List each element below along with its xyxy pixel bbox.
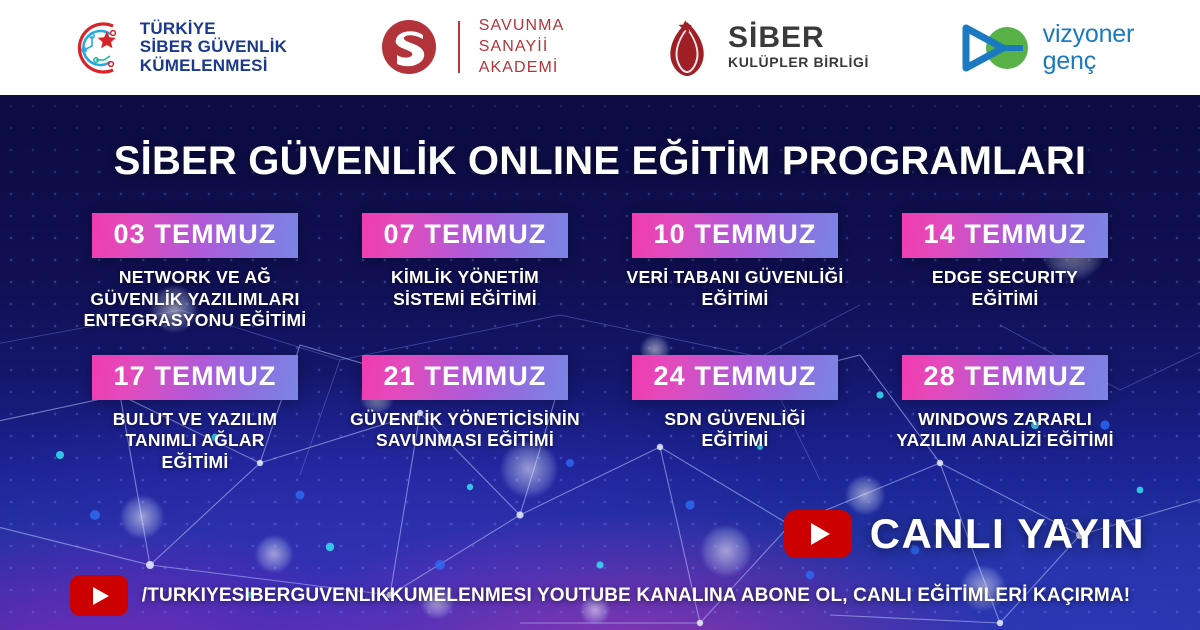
program-date-badge: 07 TEMMUZ <box>362 213 569 258</box>
program-title: WINDOWS ZARARLI YAZILIM ANALİZİ EĞİTİMİ <box>896 409 1113 452</box>
page-title: SİBER GÜVENLİK ONLINE EĞİTİM PROGRAMLARI <box>0 139 1200 184</box>
program-title: GÜVENLİK YÖNETİCİSİNİN SAVUNMASI EĞİTİMİ <box>350 409 580 452</box>
poster-content: SİBER GÜVENLİK ONLINE EĞİTİM PROGRAMLARI… <box>0 95 1200 630</box>
crescent-wings-icon <box>656 15 718 81</box>
program-row-2: 17 TEMMUZ BULUT VE YAZILIM TANIMLI AĞLAR… <box>60 355 1140 474</box>
play-triangle-icon <box>93 587 109 605</box>
logo-1-line2: SİBER GÜVENLİK <box>140 38 287 56</box>
logo-2-line2: SANAYİİ <box>479 37 565 58</box>
logo-vizyoner-genc: vizyoner genç <box>961 21 1135 74</box>
logo-2-wordmark: SAVUNMA SANAYİİ AKADEMİ <box>479 16 565 78</box>
program-date-badge: 28 TEMMUZ <box>902 355 1109 400</box>
program-date-badge: 10 TEMMUZ <box>632 213 839 258</box>
logo-2-line1: SAVUNMA <box>479 16 565 37</box>
program-title: VERİ TABANI GÜVENLİĞİ EĞİTİMİ <box>627 267 844 310</box>
logo-3-line2: KULÜPLER BİRLİGİ <box>728 53 869 71</box>
program-date-badge: 21 TEMMUZ <box>362 355 569 400</box>
program-card[interactable]: 24 TEMMUZ SDN GÜVENLİĞİ EĞİTİMİ <box>600 355 870 474</box>
live-label: CANLI YAYIN <box>870 510 1145 558</box>
program-date-badge: 03 TEMMUZ <box>92 213 299 258</box>
program-title: SDN GÜVENLİĞİ EĞİTİMİ <box>664 409 805 452</box>
sponsor-logo-bar: TÜRKİYE SİBER GÜVENLİK KÜMELENMESİ SAVUN… <box>0 0 1200 95</box>
program-card[interactable]: 07 TEMMUZ KİMLİK YÖNETİM SİSTEMİ EĞİTİMİ <box>330 213 600 332</box>
program-grid: 03 TEMMUZ NETWORK VE AĞ GÜVENLİK YAZILIM… <box>60 213 1140 473</box>
program-card[interactable]: 14 TEMMUZ EDGE SECURITY EĞİTİMİ <box>870 213 1140 332</box>
ssa-s-circle-icon <box>379 17 439 77</box>
program-card[interactable]: 10 TEMMUZ VERİ TABANI GÜVENLİĞİ EĞİTİMİ <box>600 213 870 332</box>
logo-turkiye-siber-guvenlik-kumelenmesi: TÜRKİYE SİBER GÜVENLİK KÜMELENMESİ <box>66 16 287 80</box>
program-date-badge: 17 TEMMUZ <box>92 355 299 400</box>
program-card[interactable]: 28 TEMMUZ WINDOWS ZARARLI YAZILIM ANALİZ… <box>870 355 1140 474</box>
subscribe-text: /TURKIYESIBERGUVENLIKKUMELENMESI YOUTUBE… <box>142 585 1130 607</box>
youtube-play-icon[interactable] <box>784 510 852 558</box>
program-title: NETWORK VE AĞ GÜVENLİK YAZILIMLARI ENTEG… <box>84 267 307 332</box>
logo-4-line1: vizyoner <box>1043 21 1135 47</box>
subscribe-bar[interactable]: /TURKIYESIBERGUVENLIKKUMELENMESI YOUTUBE… <box>0 575 1200 616</box>
poster: TÜRKİYE SİBER GÜVENLİK KÜMELENMESİ SAVUN… <box>0 0 1200 630</box>
logo-4-line2: genç <box>1043 48 1135 74</box>
logo-2-line3: AKADEMİ <box>479 58 565 79</box>
logo-siber-kulupler-birligi: SİBER KULÜPLER BİRLİGİ <box>656 15 869 81</box>
program-card[interactable]: 03 TEMMUZ NETWORK VE AĞ GÜVENLİK YAZILIM… <box>60 213 330 332</box>
logo-1-line1: TÜRKİYE <box>140 20 287 38</box>
logo-3-line1: SİBER <box>728 23 869 53</box>
play-circle-icon <box>961 24 1033 72</box>
logo-3-wordmark: SİBER KULÜPLER BİRLİGİ <box>728 23 869 71</box>
program-date-badge: 14 TEMMUZ <box>902 213 1109 258</box>
program-title: KİMLİK YÖNETİM SİSTEMİ EĞİTİMİ <box>391 267 539 310</box>
program-date-badge: 24 TEMMUZ <box>632 355 839 400</box>
logo-1-wordmark: TÜRKİYE SİBER GÜVENLİK KÜMELENMESİ <box>140 20 287 75</box>
program-title: BULUT VE YAZILIM TANIMLI AĞLAR EĞİTİMİ <box>113 409 277 474</box>
cyber-cluster-c-icon <box>66 16 130 80</box>
logo-1-line3: KÜMELENMESİ <box>140 57 287 75</box>
play-triangle-icon <box>811 523 830 545</box>
program-card[interactable]: 17 TEMMUZ BULUT VE YAZILIM TANIMLI AĞLAR… <box>60 355 330 474</box>
program-row-1: 03 TEMMUZ NETWORK VE AĞ GÜVENLİK YAZILIM… <box>60 213 1140 332</box>
logo-2-divider <box>458 21 460 73</box>
program-title: EDGE SECURITY EĞİTİMİ <box>932 267 1078 310</box>
logo-4-wordmark: vizyoner genç <box>1043 21 1135 74</box>
program-card[interactable]: 21 TEMMUZ GÜVENLİK YÖNETİCİSİNİN SAVUNMA… <box>330 355 600 474</box>
youtube-play-icon[interactable] <box>70 575 128 616</box>
logo-savunma-sanayii-akademi: SAVUNMA SANAYİİ AKADEMİ <box>379 16 565 78</box>
live-broadcast-banner[interactable]: CANLI YAYIN <box>784 510 1145 558</box>
